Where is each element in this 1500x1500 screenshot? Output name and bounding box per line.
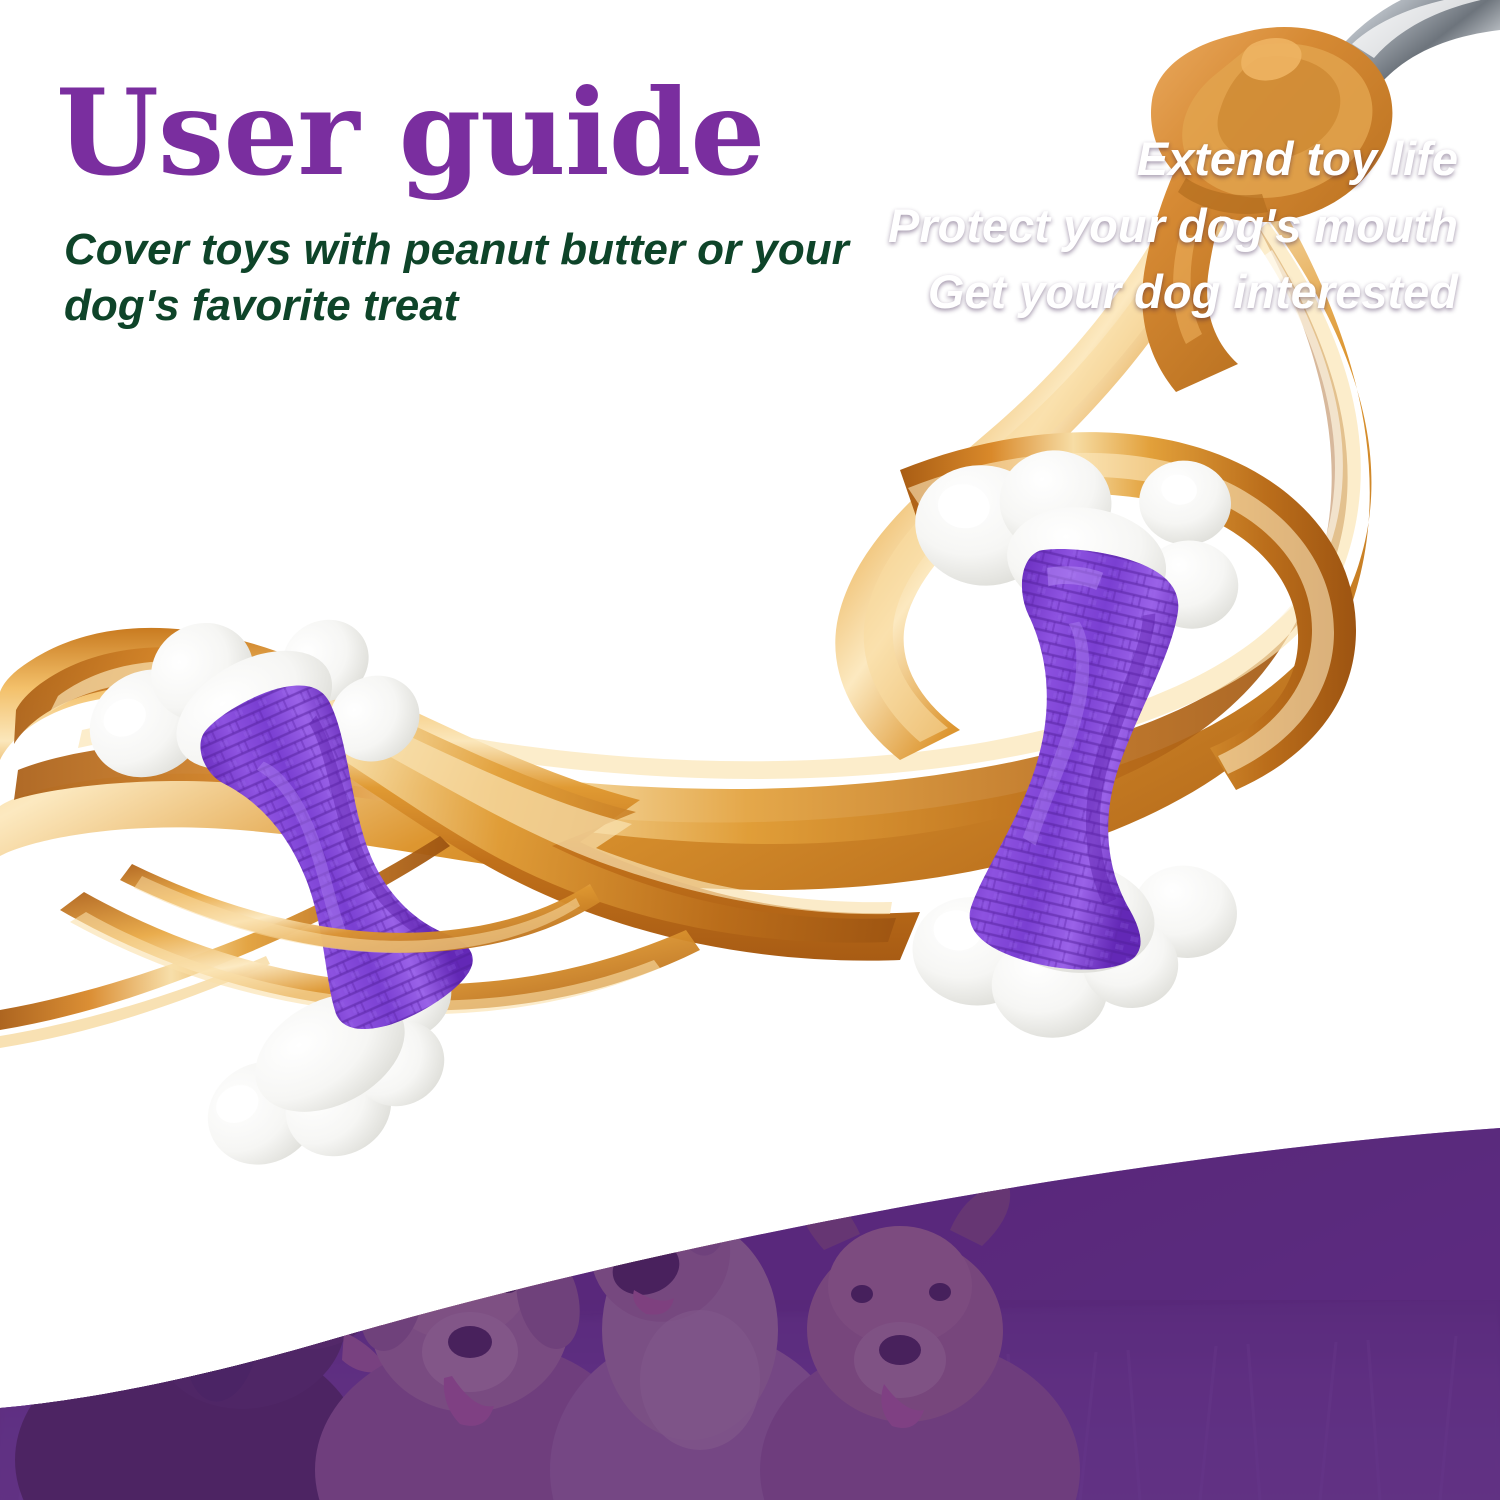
benefit-item-1: Extend toy life	[888, 126, 1458, 193]
benefit-list: Extend toy life Protect your dog's mouth…	[888, 126, 1458, 326]
page-subtitle: Cover toys with peanut butter or your do…	[64, 222, 944, 335]
benefit-item-2: Protect your dog's mouth	[888, 193, 1458, 260]
infographic-canvas: User guide Cover toys with peanut butter…	[0, 0, 1500, 1500]
page-title: User guide	[56, 74, 764, 192]
benefit-item-3: Get your dog interested	[888, 259, 1458, 326]
